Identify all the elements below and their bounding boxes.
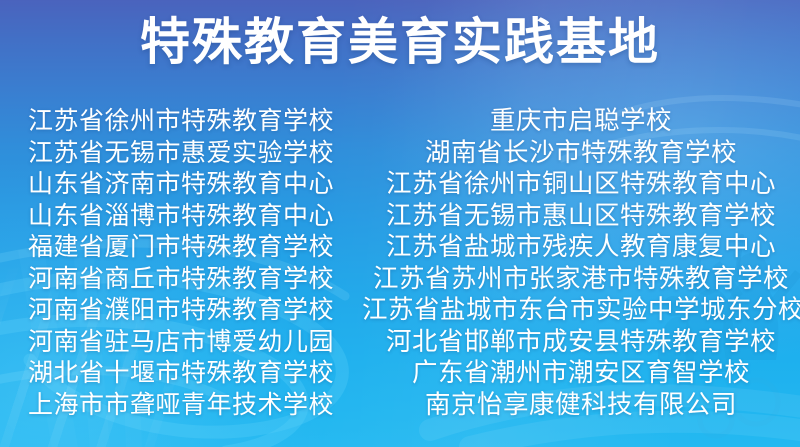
list-item: 湖南省长沙市特殊教育学校 <box>362 138 800 170</box>
list-item: 上海市市聋哑青年技术学校 <box>0 390 362 422</box>
list-item: 江苏省无锡市惠山区特殊教育学校 <box>362 201 800 233</box>
list-item: 河南省商丘市特殊教育学校 <box>0 264 362 296</box>
list-item: 山东省济南市特殊教育中心 <box>0 169 362 201</box>
list-item: 江苏省盐城市东台市实验中学城东分校 <box>362 295 800 327</box>
list-item: 重庆市启聪学校 <box>362 106 800 138</box>
page-title: 特殊教育美育实践基地 <box>0 11 800 73</box>
list-item: 江苏省无锡市惠爱实验学校 <box>0 138 362 170</box>
base-list-right-column: 重庆市启聪学校 湖南省长沙市特殊教育学校 江苏省徐州市铜山区特殊教育中心 江苏省… <box>362 106 800 421</box>
base-list-left-column: 江苏省徐州市特殊教育学校 江苏省无锡市惠爱实验学校 山东省济南市特殊教育中心 山… <box>0 106 362 421</box>
list-item: 江苏省盐城市残疾人教育康复中心 <box>362 232 800 264</box>
list-item: 河北省邯郸市成安县特殊教育学校 <box>362 327 800 359</box>
list-item: 河南省濮阳市特殊教育学校 <box>0 295 362 327</box>
list-item: 江苏省徐州市特殊教育学校 <box>0 106 362 138</box>
list-item: 山东省淄博市特殊教育中心 <box>0 201 362 233</box>
list-item: 广东省潮州市潮安区育智学校 <box>362 358 800 390</box>
poster-content: 特殊教育美育实践基地 江苏省徐州市特殊教育学校 江苏省无锡市惠爱实验学校 山东省… <box>0 0 800 447</box>
list-item: 南京怡享康健科技有限公司 <box>362 390 800 422</box>
list-item: 江苏省苏州市张家港市特殊教育学校 <box>362 264 800 296</box>
list-item: 河南省驻马店市博爱幼儿园 <box>0 327 362 359</box>
base-list-columns: 江苏省徐州市特殊教育学校 江苏省无锡市惠爱实验学校 山东省济南市特殊教育中心 山… <box>0 106 800 421</box>
poster-canvas: 特殊教育美育实践基地 江苏省徐州市特殊教育学校 江苏省无锡市惠爱实验学校 山东省… <box>0 0 800 447</box>
list-item: 福建省厦门市特殊教育学校 <box>0 232 362 264</box>
list-item: 湖北省十堰市特殊教育学校 <box>0 358 362 390</box>
list-item: 江苏省徐州市铜山区特殊教育中心 <box>362 169 800 201</box>
